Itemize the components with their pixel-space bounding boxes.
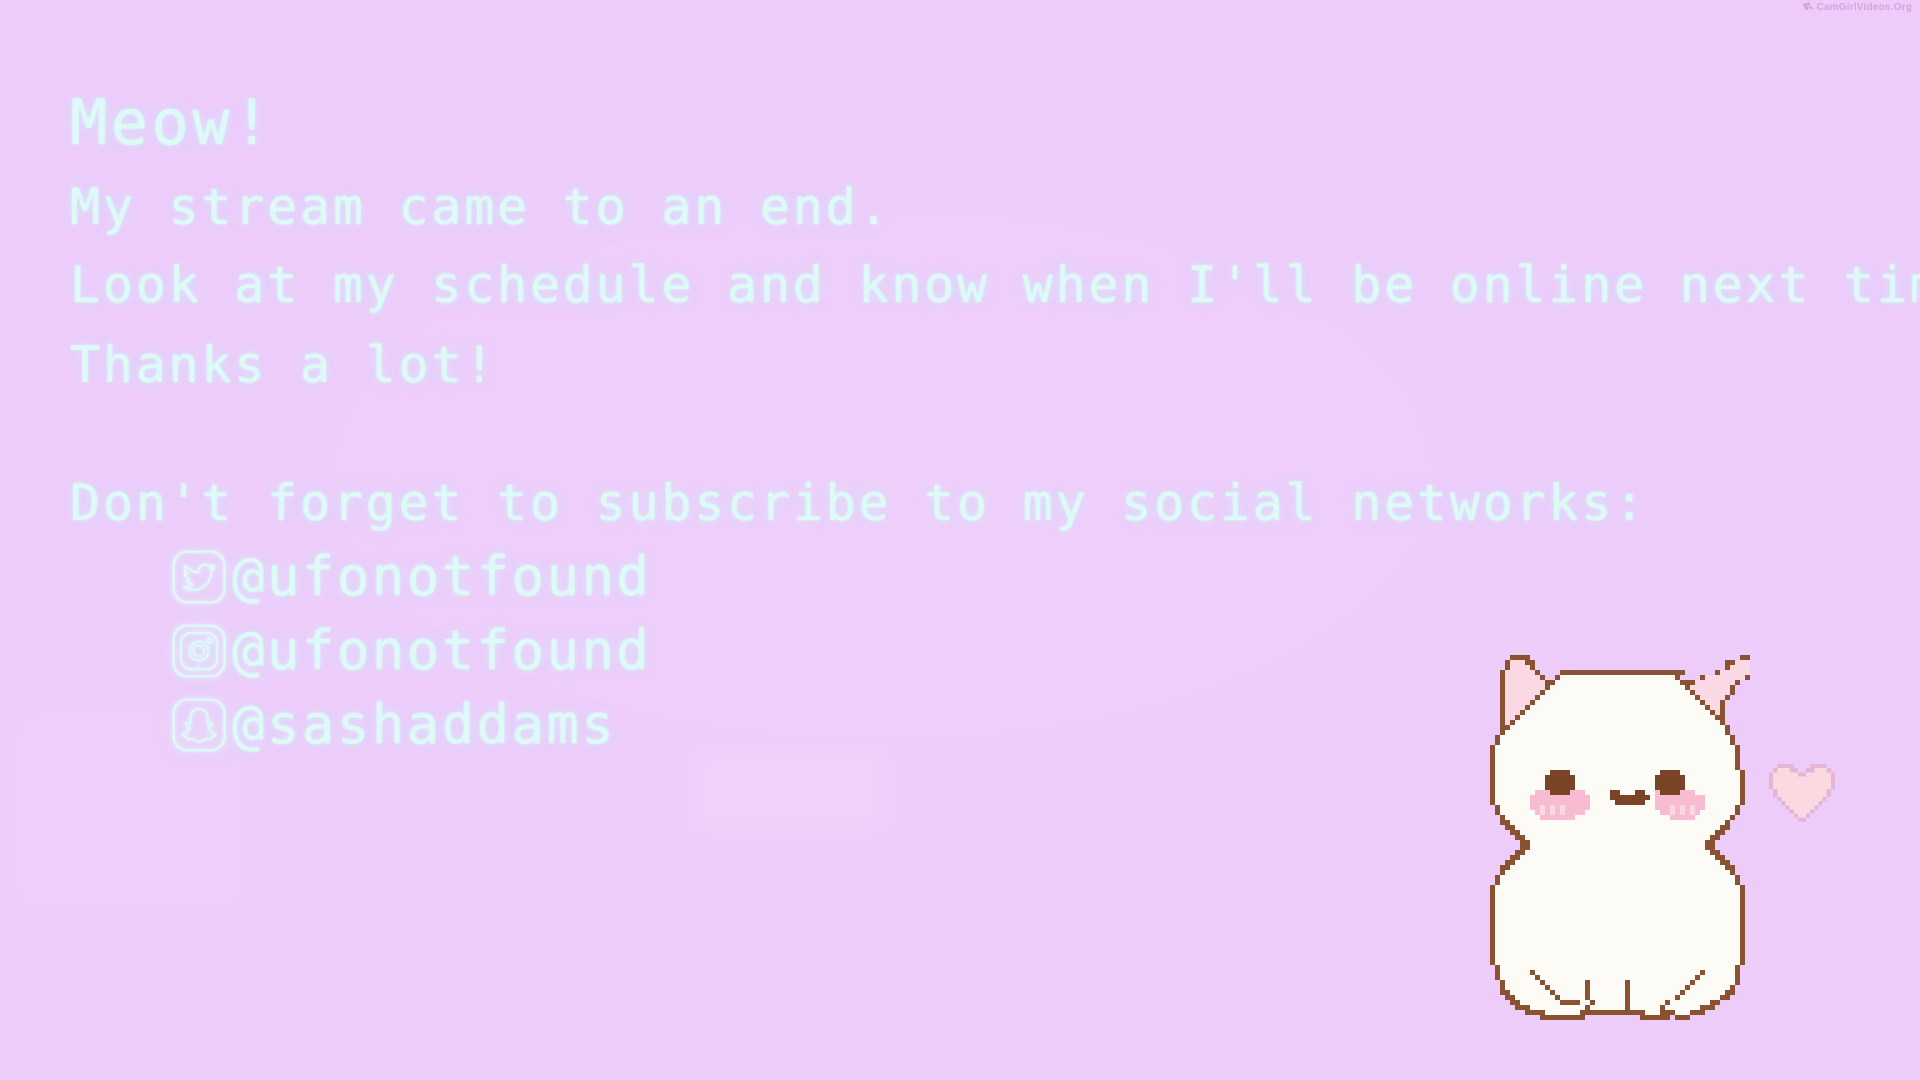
background-wash-panel (690, 748, 890, 832)
twitter-icon[interactable] (170, 548, 228, 606)
watermark-text: CamGirlVideos.Org (1817, 2, 1912, 13)
page-title: Meow! (70, 92, 1910, 154)
pixel-cat-canvas (1490, 655, 1750, 1025)
instagram-handle[interactable]: @ufonotfound (232, 624, 651, 678)
message-line-3: Thanks a lot! (70, 340, 1910, 390)
watermark: CamGirlVideos.Org (1802, 2, 1912, 13)
stream-ending-screen: { "theme": { "background": "#eeccfa", "t… (0, 0, 1920, 1080)
pixel-cat (1490, 655, 1750, 1025)
instagram-icon[interactable] (170, 622, 228, 680)
copy-spacer (70, 390, 1910, 478)
snapchat-icon[interactable] (170, 696, 228, 754)
subscribe-invite: Don't forget to subscribe to my social n… (70, 478, 1910, 528)
flower-mark-icon (1802, 2, 1814, 13)
pixel-heart (1765, 760, 1839, 830)
snapchat-handle[interactable]: @sashaddams (232, 698, 616, 752)
twitter-handle[interactable]: @ufonotfound (232, 550, 651, 604)
social-row-twitter[interactable]: @ufonotfound (170, 542, 1910, 612)
message-line-1: My stream came to an end. (70, 182, 1910, 232)
message-line-2: Look at my schedule and know when I'll b… (70, 260, 1910, 310)
